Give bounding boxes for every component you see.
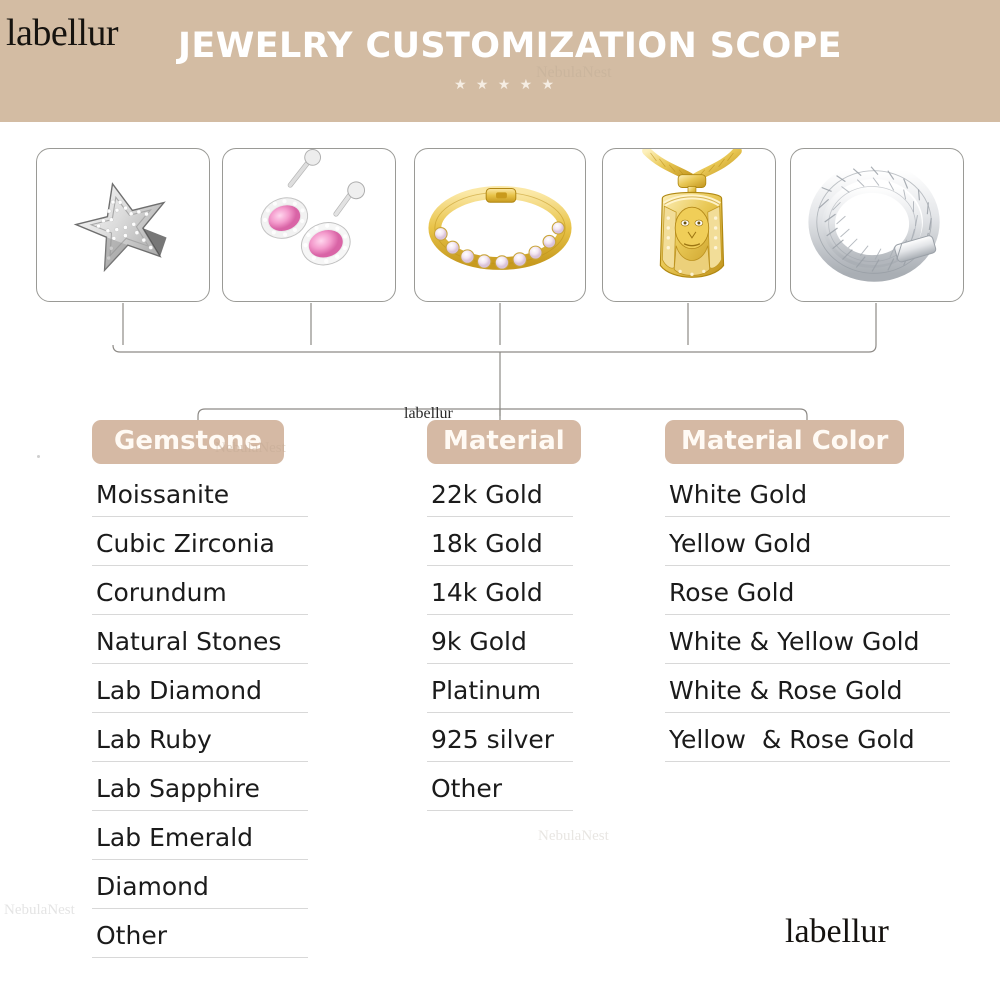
category-badge-gemstone[interactable]: Gemstone [92,420,284,464]
cuban-link-chain-icon [791,149,963,301]
star-icon: ★ [520,78,533,92]
list-item[interactable]: 22k Gold [427,482,573,517]
list-item[interactable]: 18k Gold [427,531,573,566]
list-item[interactable]: Platinum [427,678,573,713]
list-item[interactable]: White & Yellow Gold [665,629,950,664]
list-item[interactable]: Diamond [92,874,308,909]
list-item[interactable]: Other [92,923,308,958]
page-title: JEWELRY CUSTOMIZATION SCOPE [160,26,860,66]
list-item[interactable]: Yellow Gold [665,531,950,566]
jesus-pendant-icon [603,149,775,301]
list-item[interactable]: Lab Sapphire [92,776,308,811]
product-card-jesus-pendant[interactable] [602,148,776,302]
brand-logo-footer: labellur [785,915,889,949]
list-item[interactable]: 14k Gold [427,580,573,615]
option-list-material: 22k Gold 18k Gold 14k Gold 9k Gold Plati… [427,482,573,811]
category-column-gemstone: Gemstone Moissanite Cubic Zirconia Corun… [92,420,308,972]
watermark-labellur-mid: labellur [404,405,453,423]
list-item[interactable]: Lab Emerald [92,825,308,860]
list-item[interactable]: Natural Stones [92,629,308,664]
product-card-cuban-link-chain[interactable] [790,148,964,302]
list-item[interactable]: White & Rose Gold [665,678,950,713]
list-item[interactable]: 9k Gold [427,629,573,664]
tennis-bracelet-icon [415,149,585,301]
product-card-row [0,148,1000,304]
stud-earrings-icon [223,149,395,301]
category-column-material-color: Material Color White Gold Yellow Gold Ro… [665,420,950,776]
star-pendant-icon [37,149,209,301]
category-badge-material-color[interactable]: Material Color [665,420,904,464]
watermark-nebulanest-bottom-left: NebulaNest [4,902,75,919]
star-icon: ★ [476,78,489,92]
star-icon: ★ [454,78,467,92]
star-icon: ★ [498,78,511,92]
list-item[interactable]: 925 silver [427,727,573,762]
product-card-tennis-bracelet[interactable] [414,148,586,302]
list-item[interactable]: Cubic Zirconia [92,531,308,566]
list-item[interactable]: Other [427,776,573,811]
product-card-star-pendant[interactable] [36,148,210,302]
star-icon: ★ [541,78,554,92]
list-item[interactable]: White Gold [665,482,950,517]
option-list-material-color: White Gold Yellow Gold Rose Gold White &… [665,482,950,762]
star-rating-decoration: ★ ★ ★ ★ ★ [454,78,554,92]
list-item[interactable]: Lab Ruby [92,727,308,762]
page-header: labellur JEWELRY CUSTOMIZATION SCOPE Neb… [0,0,1000,122]
product-card-stud-earrings[interactable] [222,148,396,302]
list-item[interactable]: Yellow & Rose Gold [665,727,950,762]
list-item[interactable]: Moissanite [92,482,308,517]
list-item[interactable]: Corundum [92,580,308,615]
speck-artifact [37,455,40,458]
category-column-material: Material 22k Gold 18k Gold 14k Gold 9k G… [427,420,573,825]
list-item[interactable]: Lab Diamond [92,678,308,713]
category-badge-material[interactable]: Material [427,420,581,464]
watermark-nebulanest-center: NebulaNest [538,828,609,845]
brand-logo-header: labellur [6,14,118,52]
list-item[interactable]: Rose Gold [665,580,950,615]
option-list-gemstone: Moissanite Cubic Zirconia Corundum Natur… [92,482,308,958]
